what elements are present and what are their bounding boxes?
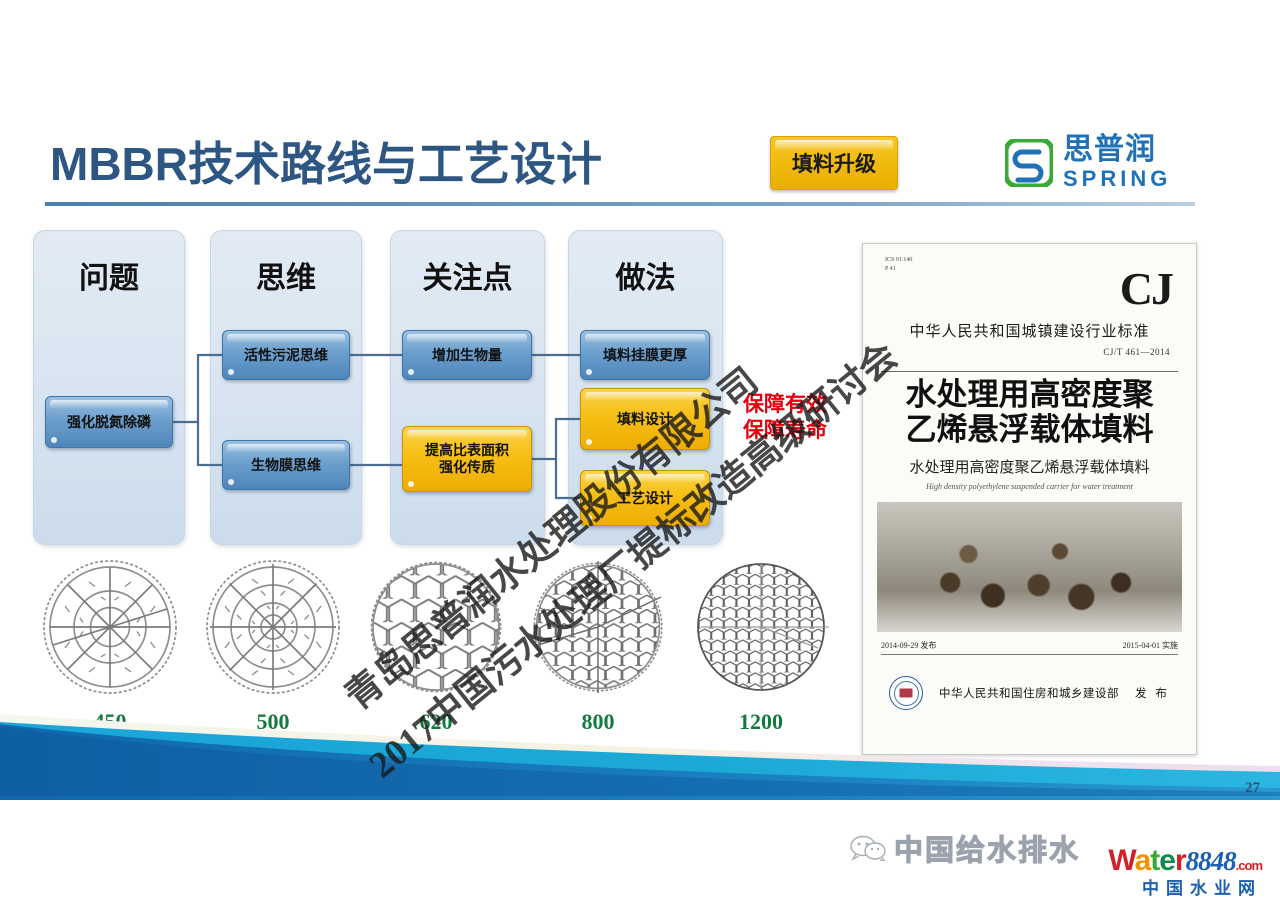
brand-name-cn: 思普润 <box>1063 135 1171 165</box>
flow-column-problem: 问题 <box>33 230 185 545</box>
flow-node-process-design[interactable]: 工艺设计 <box>580 470 710 526</box>
flow-node-label-2: 强化传质 <box>439 459 495 476</box>
logo-letter-a: a <box>1135 844 1151 877</box>
status-badge: 填料升级 <box>770 136 898 190</box>
ics-line-2: P 41 <box>885 265 912 274</box>
decorative-wave-band <box>0 680 1280 800</box>
wechat-label: 中国给水排水 <box>894 827 1080 869</box>
logo-letter-r: r <box>1175 844 1186 877</box>
document-organization: 中华人民共和国城镇建设行业标准 <box>863 320 1196 341</box>
flow-node-label: 工艺设计 <box>617 490 673 507</box>
flow-column-focus: 关注点 <box>390 230 545 545</box>
callout-line-2: 保障寿命 <box>725 418 845 444</box>
ics-line-1: ICS 91.140 <box>885 256 912 265</box>
document-divider <box>881 371 1178 372</box>
logo-number: 8848 <box>1186 846 1236 876</box>
flow-node-surface-area[interactable]: 提高比表面积 强化传质 <box>402 426 532 492</box>
document-dates: 2014-09-29 发布 2015-04-01 实施 <box>881 640 1178 651</box>
flow-node-media-design[interactable]: 填料设计 <box>580 388 710 450</box>
flow-column-heading: 关注点 <box>391 253 544 297</box>
standard-document-cover: ICS 91.140 P 41 CJ 中华人民共和国城镇建设行业标准 CJ/T … <box>862 243 1197 755</box>
page-number: 27 <box>1245 780 1260 797</box>
carrier-media-photo <box>877 502 1182 632</box>
callout-line-1: 保障有效 <box>725 392 845 418</box>
flow-node-label: 活性污泥思维 <box>244 347 328 364</box>
flow-node-label: 提高比表面积 <box>425 442 509 459</box>
page-title: MBBR技术路线与工艺设计 <box>50 128 602 194</box>
wechat-icon <box>850 835 886 861</box>
logo-letter-w: W <box>1108 844 1134 877</box>
flow-node-label: 增加生物量 <box>432 347 502 364</box>
flow-column-thinking: 思维 <box>210 230 362 545</box>
document-date-issued: 2014-09-29 发布 <box>881 640 936 651</box>
flow-node-activated-sludge[interactable]: 活性污泥思维 <box>222 330 350 380</box>
title-divider <box>45 202 1195 206</box>
flow-node-label: 生物膜思维 <box>251 457 321 474</box>
brand-logo: 思普润 SPRING <box>1005 135 1171 190</box>
logo-label-cn: 中国水业网 <box>1108 880 1262 897</box>
document-title-english: High density polyethylene suspended carr… <box>879 482 1180 491</box>
wechat-watermark: 中国给水排水 <box>850 827 1080 869</box>
flow-node-label: 填料挂膜更厚 <box>603 347 687 364</box>
status-badge-label: 填料升级 <box>792 148 876 178</box>
document-title: 水处理用高密度聚 乙烯悬浮载体填料 <box>879 378 1180 447</box>
flow-column-heading: 做法 <box>569 253 722 297</box>
brand-name-en: SPRING <box>1063 168 1171 190</box>
water8848-logo: Water8848.com 中国水业网 <box>1108 846 1262 897</box>
slide-canvas: MBBR技术路线与工艺设计 填料升级 思普润 SPRING 问题 思维 关注点 … <box>0 0 1280 905</box>
callout-guarantee: 保障有效 保障寿命 <box>725 392 845 445</box>
document-subtitle: 水处理用高密度聚乙烯悬浮载体填料 <box>879 456 1180 477</box>
document-ics-code: ICS 91.140 P 41 <box>885 256 912 274</box>
flow-node-label: 填料设计 <box>617 411 673 428</box>
document-mark: CJ <box>1120 262 1172 315</box>
spring-e-logo-icon <box>1005 139 1053 187</box>
flow-node-biofilm[interactable]: 生物膜思维 <box>222 440 350 490</box>
flow-column-heading: 问题 <box>34 253 184 297</box>
flow-node-problem[interactable]: 强化脱氮除磷 <box>45 396 173 448</box>
logo-tld: .com <box>1236 858 1262 873</box>
document-dates-divider <box>881 654 1178 655</box>
flow-node-increase-biomass[interactable]: 增加生物量 <box>402 330 532 380</box>
page-footer: 中国给水排水 Water8848.com 中国水业网 <box>0 805 1280 905</box>
flow-node-label: 强化脱氮除磷 <box>67 414 151 431</box>
flow-node-thicker-biofilm[interactable]: 填料挂膜更厚 <box>580 330 710 380</box>
flow-column-heading: 思维 <box>211 253 361 297</box>
document-title-line-2: 乙烯悬浮载体填料 <box>879 413 1180 448</box>
logo-letter-t: t <box>1150 844 1159 877</box>
document-title-line-1: 水处理用高密度聚 <box>879 378 1180 413</box>
document-date-effective: 2015-04-01 实施 <box>1123 640 1178 651</box>
logo-letter-e: e <box>1159 844 1175 877</box>
water8848-wordmark: Water8848.com <box>1108 846 1262 876</box>
document-standard-code: CJ/T 461—2014 <box>1103 347 1170 357</box>
